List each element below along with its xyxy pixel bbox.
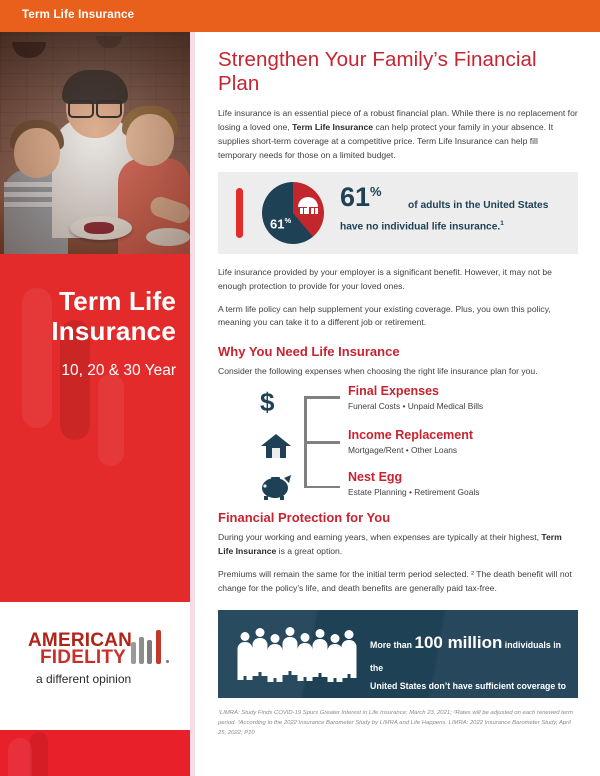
people-stat-text: More than 100 million individuals in the… <box>370 626 566 698</box>
panel-subtitle: 10, 20 & 30 Year <box>8 362 176 380</box>
top-header-bar: Term Life Insurance <box>0 0 600 32</box>
benefit-title: Income Replacement <box>348 428 473 443</box>
protection-text-after: is a great option. <box>276 546 342 556</box>
benefit-item: Nest Egg Estate Planning • Retirement Go… <box>348 470 479 497</box>
sidebar-edge-divider <box>190 32 195 776</box>
footnotes: ¹LIMRA: Study Finds COVID-19 Spurs Great… <box>218 708 578 738</box>
pie-stat-text-line-1: of adults in the United States <box>408 200 548 211</box>
benefit-desc: Mortgage/Rent • Other Loans <box>348 445 473 455</box>
pie-stat-number: 61 <box>340 182 370 212</box>
protection-paragraph-1: During your working and earning years, w… <box>218 531 578 559</box>
benefit-title: Nest Egg <box>348 470 479 485</box>
why-section-heading: Why You Need Life Insurance <box>218 344 578 359</box>
family-photo <box>0 32 190 254</box>
panel-title-line-1: Term Life <box>8 286 176 316</box>
piggy-bank-icon <box>260 474 294 504</box>
top-header-title: Term Life Insurance <box>22 9 134 21</box>
pie-stat-text-2: have no individual life insurance. <box>340 221 500 232</box>
people-stat-big-number: 100 million <box>414 633 502 652</box>
main-content: Strengthen Your Family’s Financial Plan … <box>218 48 578 738</box>
pie-stat-text-line-2: have no individual life insurance.1 <box>340 220 504 232</box>
pie-stat-percent-sign: % <box>370 184 382 199</box>
block-watermark-bar <box>30 732 48 776</box>
benefit-title: Final Expenses <box>348 384 483 399</box>
bracket-connector <box>304 396 340 488</box>
block-watermark-bar <box>8 738 32 776</box>
red-title-panel: Term Life Insurance 10, 20 & 30 Year <box>0 254 190 602</box>
pie-stat-big-number: 61% <box>340 184 382 211</box>
panel-title: Term Life Insurance <box>8 286 176 346</box>
benefit-desc: Funeral Costs • Unpaid Medical Bills <box>348 401 483 411</box>
employer-paragraph: Life insurance provided by your employer… <box>218 266 578 294</box>
pie-label-symbol: % <box>284 216 291 225</box>
people-stat-box: More than 100 million individuals in the… <box>218 610 578 698</box>
umbrella-icon <box>298 195 318 215</box>
logo-tagline: a different opinion <box>36 672 131 686</box>
panel-title-line-2: Insurance <box>8 316 176 346</box>
bottom-red-block <box>0 730 190 776</box>
company-logo: AMERICAN FIDELITY a different opinion <box>0 602 190 730</box>
left-sidebar: Term Life Insurance 10, 20 & 30 Year AME… <box>0 32 190 776</box>
supplement-paragraph: A term life policy can help supplement y… <box>218 303 578 331</box>
house-icon <box>260 432 294 462</box>
people-figures-icon <box>236 626 354 684</box>
brochure-page: Term Life Insurance <box>0 0 600 776</box>
benefit-item: Income Replacement Mortgage/Rent • Other… <box>348 428 473 455</box>
people-stat-prefix: More than <box>370 640 414 650</box>
intro-paragraph: Life insurance is an essential piece of … <box>218 107 578 163</box>
people-stat-line-1: More than 100 million individuals in the <box>370 626 566 678</box>
page-title: Strengthen Your Family’s Financial Plan <box>218 48 578 96</box>
pie-stat-box: 61% 61% of adults in the United States h… <box>218 172 578 254</box>
protection-text-before: During your working and earning years, w… <box>218 532 541 542</box>
benefit-item: Final Expenses Funeral Costs • Unpaid Me… <box>348 384 483 411</box>
benefit-desc: Estate Planning • Retirement Goals <box>348 487 479 497</box>
pie-label-value: 61 <box>270 216 284 231</box>
panel-watermark-bar <box>98 374 124 466</box>
intro-text-bold: Term Life Insurance <box>292 122 373 132</box>
logo-bars-icon <box>131 628 171 664</box>
logo-text-fidelity: FIDELITY <box>40 647 126 669</box>
protection-section-heading: Financial Protection for You <box>218 510 578 525</box>
pie-chart: 61% <box>262 182 324 244</box>
pie-chart-label: 61% <box>270 216 291 231</box>
protection-paragraph-2: Premiums will remain the same for the in… <box>218 568 578 596</box>
footnote-marker: 1 <box>500 220 504 227</box>
why-section-intro: Consider the following expenses when cho… <box>218 365 578 379</box>
benefits-list: $ Final Expenses <box>218 388 578 496</box>
dollar-icon: $ <box>260 388 294 418</box>
people-stat-line-2: United States don’t have sufficient cove… <box>370 678 566 698</box>
photo-vignette <box>0 32 190 254</box>
accent-bar <box>236 188 243 238</box>
logo-dot-icon <box>166 660 169 663</box>
